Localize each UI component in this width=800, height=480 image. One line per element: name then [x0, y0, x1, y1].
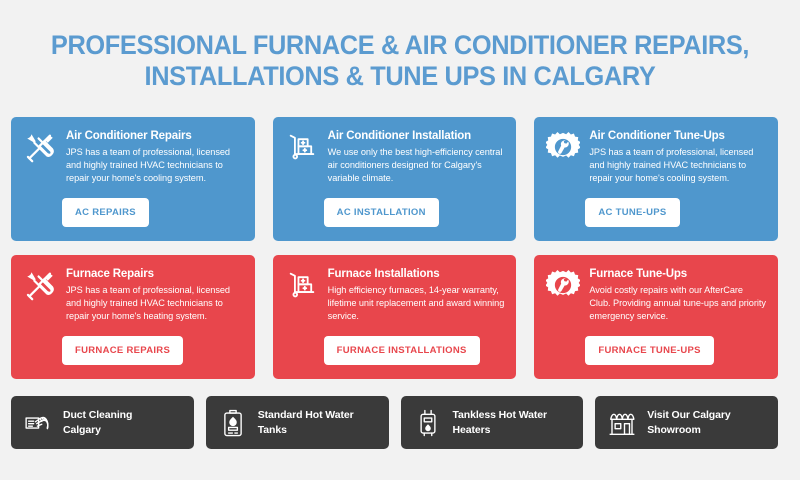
gear-wrench-icon [546, 268, 580, 302]
card-description: Avoid costly repairs with our AfterCare … [589, 284, 766, 324]
tile-visit-our-calgary-showroom[interactable]: Visit Our Calgary Showroom [595, 396, 778, 449]
page-title: PROFESSIONAL FURNACE & AIR CONDITIONER R… [24, 0, 776, 92]
tile-tankless-hot-water-heaters[interactable]: Tankless Hot Water Heaters [401, 396, 584, 449]
card-title: Furnace Tune-Ups [589, 268, 766, 281]
card-header: Air Conditioner Installation We use only… [285, 129, 505, 186]
card-title: Air Conditioner Tune-Ups [589, 130, 766, 143]
tile-label: Standard Hot Water Tanks [258, 408, 354, 438]
tankless-heater-icon [413, 408, 443, 438]
card-description: JPS has a team of professional, licensed… [66, 284, 243, 324]
service-card-row-blue: Air Conditioner Repairs JPS has a team o… [11, 117, 778, 241]
service-card-furnace-repairs[interactable]: Furnace Repairs JPS has a team of profes… [11, 255, 255, 379]
tile-label-line-2: Heaters [453, 423, 547, 438]
wrench-screwdriver-icon [23, 130, 57, 164]
card-header: Furnace Repairs JPS has a team of profes… [23, 267, 243, 324]
hand-truck-icon [285, 130, 319, 164]
card-description: High efficiency furnaces, 14-year warran… [328, 284, 505, 324]
tile-standard-hot-water-tanks[interactable]: Standard Hot Water Tanks [206, 396, 389, 449]
card-text: Furnace Tune-Ups Avoid costly repairs wi… [589, 267, 766, 324]
card-description: We use only the best high-efficiency cen… [328, 146, 505, 186]
page-title-line-2: INSTALLATIONS & TUNE UPS IN CALGARY [24, 61, 776, 92]
card-title: Furnace Installations [328, 268, 505, 281]
service-card-furnace-tune-ups[interactable]: Furnace Tune-Ups Avoid costly repairs wi… [534, 255, 778, 379]
service-card-furnace-installations[interactable]: Furnace Installations High efficiency fu… [273, 255, 517, 379]
tile-label-line-2: Tanks [258, 423, 354, 438]
air-duct-hose-icon [23, 408, 53, 438]
ac-installation-button[interactable]: AC INSTALLATION [324, 198, 439, 227]
service-card-row-red: Furnace Repairs JPS has a team of profes… [11, 255, 778, 379]
ac-repairs-button[interactable]: AC REPAIRS [62, 198, 149, 227]
card-text: Air Conditioner Tune-Ups JPS has a team … [589, 129, 766, 186]
service-card-ac-tune-ups[interactable]: Air Conditioner Tune-Ups JPS has a team … [534, 117, 778, 241]
card-description: JPS has a team of professional, licensed… [66, 146, 243, 186]
ac-tune-ups-button[interactable]: AC TUNE-UPS [585, 198, 679, 227]
page-title-line-1: PROFESSIONAL FURNACE & AIR CONDITIONER R… [51, 30, 749, 60]
card-title: Air Conditioner Repairs [66, 130, 243, 143]
card-text: Furnace Repairs JPS has a team of profes… [66, 267, 243, 324]
tile-label: Duct Cleaning Calgary [63, 408, 132, 438]
tile-label-line-1: Duct Cleaning [63, 408, 132, 423]
card-text: Furnace Installations High efficiency fu… [328, 267, 505, 324]
tile-label-line-2: Calgary [63, 423, 132, 438]
wrench-screwdriver-icon [23, 268, 57, 302]
gear-wrench-icon [546, 130, 580, 164]
furnace-tune-ups-button[interactable]: FURNACE TUNE-UPS [585, 336, 713, 365]
service-card-grid: Air Conditioner Repairs JPS has a team o… [11, 117, 778, 379]
tile-label: Visit Our Calgary Showroom [647, 408, 730, 438]
water-tank-flame-icon [218, 408, 248, 438]
tile-label: Tankless Hot Water Heaters [453, 408, 547, 438]
card-text: Air Conditioner Installation We use only… [328, 129, 505, 186]
tile-label-line-1: Standard Hot Water [258, 408, 354, 423]
tile-label-line-2: Showroom [647, 423, 730, 438]
page-root: PROFESSIONAL FURNACE & AIR CONDITIONER R… [0, 0, 800, 480]
furnace-repairs-button[interactable]: FURNACE REPAIRS [62, 336, 183, 365]
storefront-icon [607, 408, 637, 438]
card-text: Air Conditioner Repairs JPS has a team o… [66, 129, 243, 186]
hand-truck-icon [285, 268, 319, 302]
furnace-installations-button[interactable]: FURNACE INSTALLATIONS [324, 336, 480, 365]
card-title: Air Conditioner Installation [328, 130, 505, 143]
card-title: Furnace Repairs [66, 268, 243, 281]
tile-label-line-1: Visit Our Calgary [647, 408, 730, 423]
tile-duct-cleaning-calgary[interactable]: Duct Cleaning Calgary [11, 396, 194, 449]
service-card-ac-repairs[interactable]: Air Conditioner Repairs JPS has a team o… [11, 117, 255, 241]
card-description: JPS has a team of professional, licensed… [589, 146, 766, 186]
tile-label-line-1: Tankless Hot Water [453, 408, 547, 423]
card-header: Furnace Installations High efficiency fu… [285, 267, 505, 324]
secondary-service-tiles: Duct Cleaning Calgary Standard Hot Water… [11, 396, 778, 449]
card-header: Furnace Tune-Ups Avoid costly repairs wi… [546, 267, 766, 324]
card-header: Air Conditioner Repairs JPS has a team o… [23, 129, 243, 186]
service-card-ac-installation[interactable]: Air Conditioner Installation We use only… [273, 117, 517, 241]
card-header: Air Conditioner Tune-Ups JPS has a team … [546, 129, 766, 186]
